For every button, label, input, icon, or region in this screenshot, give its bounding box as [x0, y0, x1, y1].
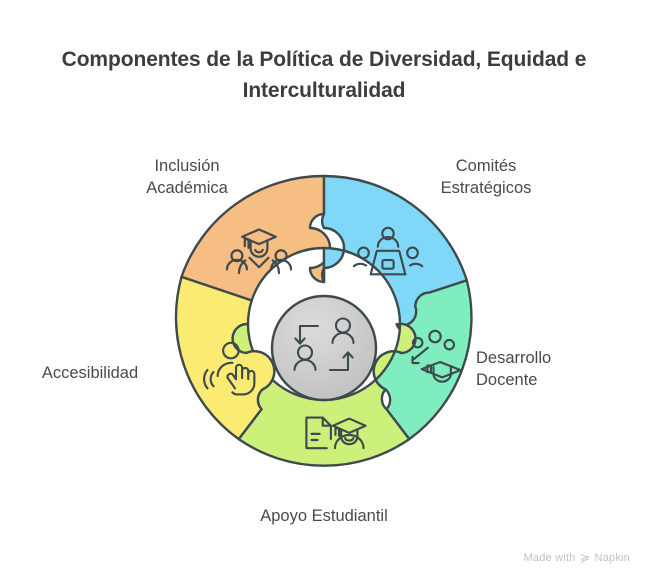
watermark-prefix: Made with [524, 552, 576, 564]
segment-label-inclusion-academica: Inclusión Académica [96, 155, 278, 199]
segment-label-apoyo-estudiantil: Apoyo Estudiantil [206, 505, 442, 527]
segment-label-accesibilidad: Accesibilidad [6, 362, 174, 384]
napkin-logo-icon: ≽ [579, 551, 590, 564]
napkin-watermark: Made with ≽ Napkin [524, 551, 630, 564]
watermark-brand: Napkin [595, 552, 630, 564]
segment-label-comites-estrategicos: Comités Estratégicos [396, 155, 576, 199]
segment-label-desarrollo-docente: Desarrollo Docente [476, 347, 642, 391]
puzzle-circle-diagram: Inclusión Académica Comités Estratégicos… [0, 0, 648, 576]
diagram-svg [0, 0, 648, 576]
central-hub-circle[interactable] [272, 296, 376, 400]
central-hub[interactable] [272, 296, 376, 400]
